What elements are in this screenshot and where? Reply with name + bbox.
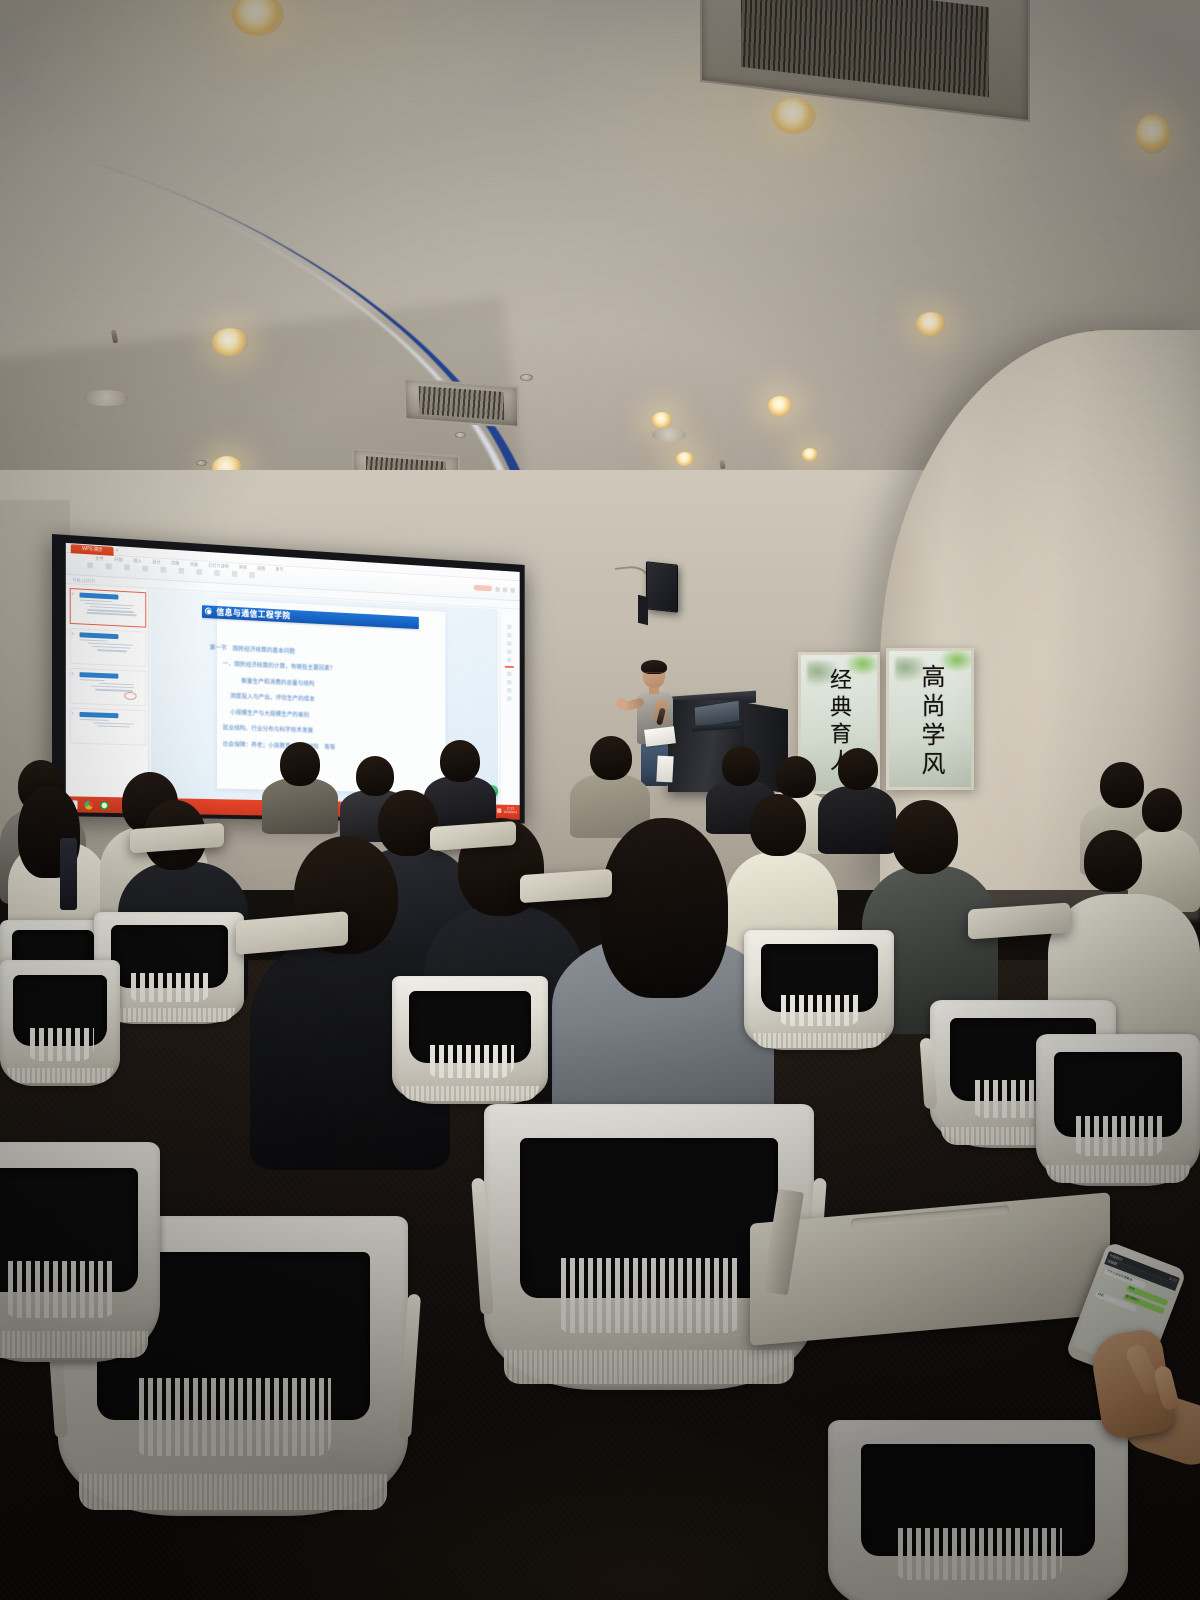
person-head bbox=[440, 740, 480, 782]
smoke-detector-icon bbox=[520, 374, 533, 381]
person-head bbox=[892, 800, 958, 874]
chair-vent-comb bbox=[753, 1033, 885, 1047]
thumbnail-line bbox=[80, 718, 109, 721]
ribbon-right-group[interactable] bbox=[474, 585, 515, 593]
ac-vent-grille bbox=[741, 0, 989, 98]
thumbnail-line bbox=[97, 649, 127, 652]
shape-icon[interactable] bbox=[507, 658, 511, 663]
tray-icon[interactable] bbox=[497, 808, 501, 813]
chair bbox=[0, 1142, 160, 1362]
slide-number: 6 bbox=[72, 672, 74, 676]
chair-slots bbox=[127, 973, 211, 1002]
ac-vent-grille bbox=[419, 386, 504, 419]
downlight-icon bbox=[676, 452, 694, 466]
slide-number: 4 bbox=[72, 592, 74, 596]
downlight-icon bbox=[802, 448, 818, 461]
ceiling-disc-fixture bbox=[652, 428, 686, 442]
person-head bbox=[1142, 788, 1182, 832]
slide-number: 5 bbox=[72, 632, 74, 636]
print-icon[interactable] bbox=[142, 566, 148, 572]
chair-slots bbox=[4, 1261, 116, 1318]
menu-item[interactable]: 视图 bbox=[257, 566, 265, 572]
thumbnail-banner bbox=[80, 712, 119, 718]
person-head bbox=[280, 742, 320, 786]
template-icon[interactable] bbox=[507, 625, 511, 630]
chair-vent-comb bbox=[79, 1474, 387, 1510]
chair-vent-comb bbox=[401, 1086, 538, 1101]
settings-icon[interactable] bbox=[507, 696, 511, 701]
chart-icon[interactable] bbox=[507, 641, 511, 646]
wall-speaker-bracket bbox=[638, 595, 648, 625]
downlight-icon bbox=[1136, 114, 1170, 154]
slide-thumbnail[interactable]: 4 bbox=[70, 588, 146, 628]
thumbnail-banner bbox=[80, 672, 119, 678]
red-stamp-icon bbox=[124, 691, 136, 699]
shape-icon[interactable] bbox=[249, 572, 255, 578]
chair-vent-comb bbox=[103, 1008, 235, 1021]
text-icon[interactable] bbox=[507, 649, 511, 654]
slide-thumbnail[interactable]: 6 bbox=[70, 668, 146, 707]
lecture-hall-photo: 经典育人 高尚学风 WPS 演示 × 文件 开始 插入 设计 切换 动画 幻灯片… bbox=[0, 0, 1200, 1600]
redo-icon[interactable] bbox=[179, 568, 185, 574]
chair-slots bbox=[426, 1045, 513, 1078]
phone-user: 中国移动 11:22 班级群 下午三点在这里集合 收到 我已经到了 好的 bbox=[1078, 1248, 1200, 1438]
taskbar-clock[interactable]: 11:21 2019/9/13 bbox=[504, 807, 517, 815]
share-icon[interactable] bbox=[507, 679, 511, 684]
smoke-detector-icon bbox=[455, 432, 466, 438]
format-icon[interactable] bbox=[214, 570, 220, 576]
person-head bbox=[1084, 830, 1142, 892]
comment-icon[interactable] bbox=[507, 688, 511, 693]
chair-vent-comb bbox=[504, 1350, 794, 1384]
thumbnail-line bbox=[93, 722, 133, 725]
slide-line: 测度投入与产出，评估生产的成本 bbox=[210, 691, 479, 710]
menu-item[interactable]: 开始 bbox=[114, 557, 122, 563]
downlight-icon bbox=[212, 328, 248, 356]
audience-member bbox=[552, 818, 774, 1128]
system-tray[interactable]: 11:21 2019/9/13 bbox=[497, 806, 517, 814]
undo-icon[interactable] bbox=[161, 567, 167, 573]
chair-slots bbox=[777, 995, 861, 1026]
downlight-icon bbox=[768, 396, 792, 416]
thumbnail-banner bbox=[80, 593, 119, 600]
thumbnail-line bbox=[97, 725, 130, 728]
account-icon[interactable] bbox=[495, 587, 499, 592]
menu-item[interactable]: 切换 bbox=[171, 560, 179, 566]
menu-item[interactable]: 章节 bbox=[275, 567, 283, 573]
slide-number: 7 bbox=[72, 712, 74, 716]
chair bbox=[0, 960, 120, 1086]
person-strap bbox=[60, 838, 77, 910]
maximize-icon[interactable] bbox=[511, 587, 515, 592]
green-leaf-icon bbox=[939, 648, 974, 672]
minimize-icon[interactable] bbox=[503, 587, 507, 592]
menu-item[interactable]: 动画 bbox=[190, 562, 198, 568]
slide-thumbnail[interactable]: 5 bbox=[70, 628, 146, 667]
calligraphy-panel-right: 高尚学风 bbox=[886, 648, 974, 790]
downlight-icon bbox=[652, 412, 672, 428]
ac-vent bbox=[404, 378, 520, 428]
open-icon[interactable] bbox=[106, 563, 112, 569]
chair-vent-comb bbox=[0, 1331, 148, 1357]
presenter-left-hand bbox=[616, 698, 627, 709]
chair-vent-comb bbox=[1046, 1165, 1190, 1183]
presenter-handout bbox=[656, 756, 673, 783]
close-icon[interactable]: × bbox=[115, 548, 120, 554]
font-icon[interactable] bbox=[232, 571, 238, 577]
right-tool-rail[interactable] bbox=[500, 611, 518, 805]
menu-item[interactable]: 审阅 bbox=[239, 565, 247, 571]
chair bbox=[828, 1420, 1128, 1600]
audience-member bbox=[262, 742, 338, 832]
downlight-icon bbox=[916, 312, 946, 336]
chair-slots bbox=[1072, 1116, 1164, 1156]
person-body bbox=[262, 778, 338, 834]
chair-slots bbox=[135, 1378, 331, 1456]
save-icon[interactable] bbox=[124, 564, 130, 570]
paste-icon[interactable] bbox=[196, 569, 202, 575]
menu-item[interactable]: 设计 bbox=[152, 559, 160, 565]
chair-slots bbox=[26, 1028, 93, 1061]
divider bbox=[505, 666, 514, 668]
menu-item[interactable]: 插入 bbox=[133, 558, 141, 564]
person-head bbox=[722, 746, 760, 786]
thumbnail-banner bbox=[80, 632, 119, 638]
menu-item[interactable]: 文件 bbox=[95, 556, 104, 562]
image-icon[interactable] bbox=[507, 633, 511, 638]
new-icon[interactable] bbox=[87, 562, 93, 568]
chair-vent-comb bbox=[7, 1068, 113, 1083]
person-head bbox=[838, 748, 878, 790]
smoke-detector-icon bbox=[196, 460, 207, 466]
slide-line: 就业结构、行业分布与科学技术发展 bbox=[210, 723, 479, 740]
chair-slots bbox=[557, 1258, 742, 1332]
university-logo-icon bbox=[204, 606, 213, 616]
cloud-icon[interactable] bbox=[507, 671, 511, 676]
downlight-icon bbox=[772, 98, 816, 134]
person-head bbox=[776, 756, 816, 798]
ceiling-disc-fixture bbox=[84, 390, 128, 406]
calligraphy-text-right: 高尚学风 bbox=[918, 664, 942, 780]
member-badge[interactable] bbox=[474, 585, 493, 592]
chair bbox=[1036, 1034, 1200, 1186]
glasses-icon bbox=[644, 672, 664, 676]
slide-thumbnail[interactable]: 7 bbox=[70, 708, 146, 746]
person-head bbox=[590, 736, 632, 780]
chair bbox=[744, 930, 894, 1050]
slide-line: 小规模生产与大规模生产的差别 bbox=[210, 707, 479, 725]
chair-slots bbox=[894, 1528, 1062, 1580]
chair bbox=[392, 976, 548, 1104]
person-long-hair bbox=[600, 818, 728, 998]
wall-speaker bbox=[646, 561, 678, 612]
